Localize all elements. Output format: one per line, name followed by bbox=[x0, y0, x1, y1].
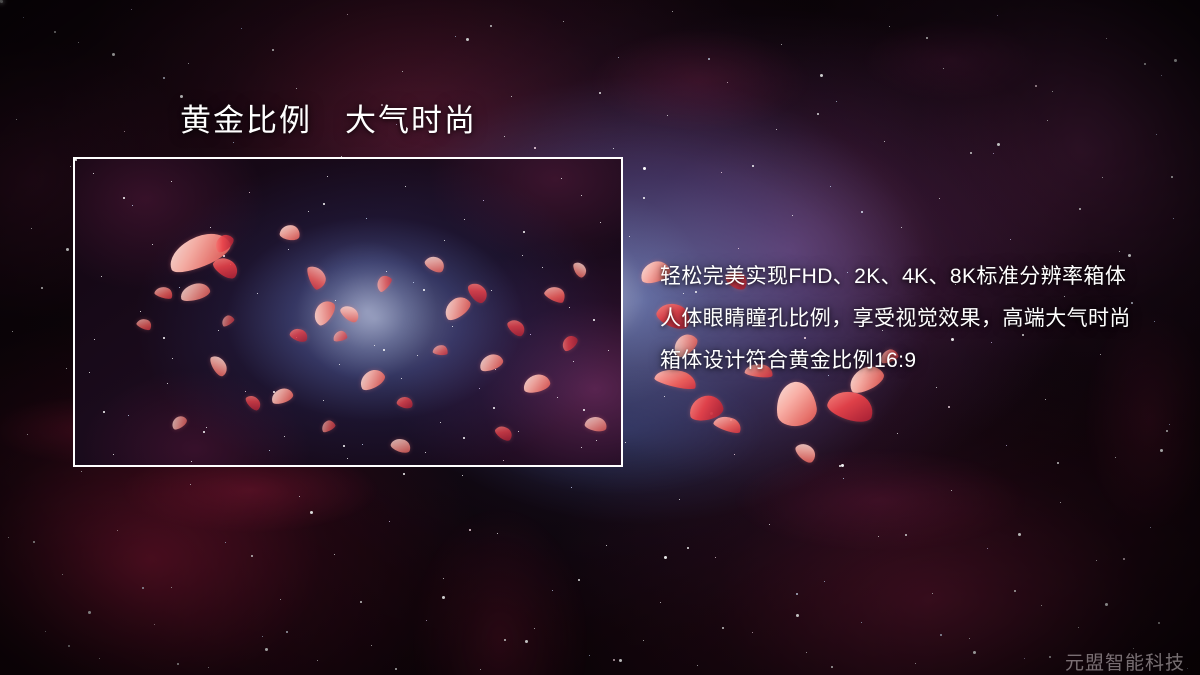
petal bbox=[373, 273, 393, 294]
petal bbox=[305, 263, 328, 291]
body-copy-line: 人体眼睛瞳孔比例，享受视觉效果，高端大气时尚 bbox=[660, 298, 1130, 340]
body-copy: 轻松完美实现FHD、2K、4K、8K标准分辨率箱体人体眼睛瞳孔比例，享受视觉效果… bbox=[660, 256, 1130, 382]
petal bbox=[773, 379, 819, 428]
petal bbox=[220, 313, 236, 327]
petal bbox=[208, 353, 230, 379]
petal bbox=[396, 395, 414, 410]
petal bbox=[423, 253, 447, 275]
petal bbox=[521, 372, 551, 395]
page-title: 黄金比例 大气时尚 bbox=[180, 100, 477, 142]
petal bbox=[440, 293, 473, 324]
petal bbox=[584, 415, 608, 433]
petal bbox=[269, 386, 294, 406]
petal bbox=[493, 423, 515, 443]
petal bbox=[477, 351, 505, 373]
petal bbox=[338, 302, 362, 325]
petal bbox=[244, 393, 264, 413]
starfield-bright bbox=[0, 0, 3, 3]
petal bbox=[543, 283, 568, 305]
petal bbox=[310, 297, 339, 328]
watermark: 元盟智能科技 bbox=[1065, 648, 1185, 675]
petal bbox=[154, 284, 175, 300]
petal bbox=[279, 223, 301, 241]
petal bbox=[571, 260, 588, 279]
display-frame-panel bbox=[73, 157, 623, 467]
petal bbox=[320, 418, 337, 433]
petal bbox=[288, 326, 309, 344]
petal bbox=[136, 316, 154, 331]
petal bbox=[505, 316, 528, 339]
petal bbox=[432, 344, 448, 356]
body-copy-line: 箱体设计符合黄金比例16:9 bbox=[660, 340, 1130, 382]
petal bbox=[825, 386, 877, 427]
petal bbox=[559, 333, 580, 353]
petal bbox=[389, 436, 412, 455]
presentation-slide: 黄金比例 大气时尚 轻松完美实现FHD、2K、4K、8K标准分辨率箱体人体眼睛瞳… bbox=[0, 0, 1200, 675]
frame-starfield-bright bbox=[75, 159, 77, 161]
petal bbox=[793, 439, 819, 465]
petal bbox=[169, 413, 188, 431]
body-copy-line: 轻松完美实现FHD、2K、4K、8K标准分辨率箱体 bbox=[660, 256, 1130, 298]
petal bbox=[357, 366, 388, 393]
petal bbox=[332, 330, 348, 343]
petal bbox=[179, 281, 212, 304]
